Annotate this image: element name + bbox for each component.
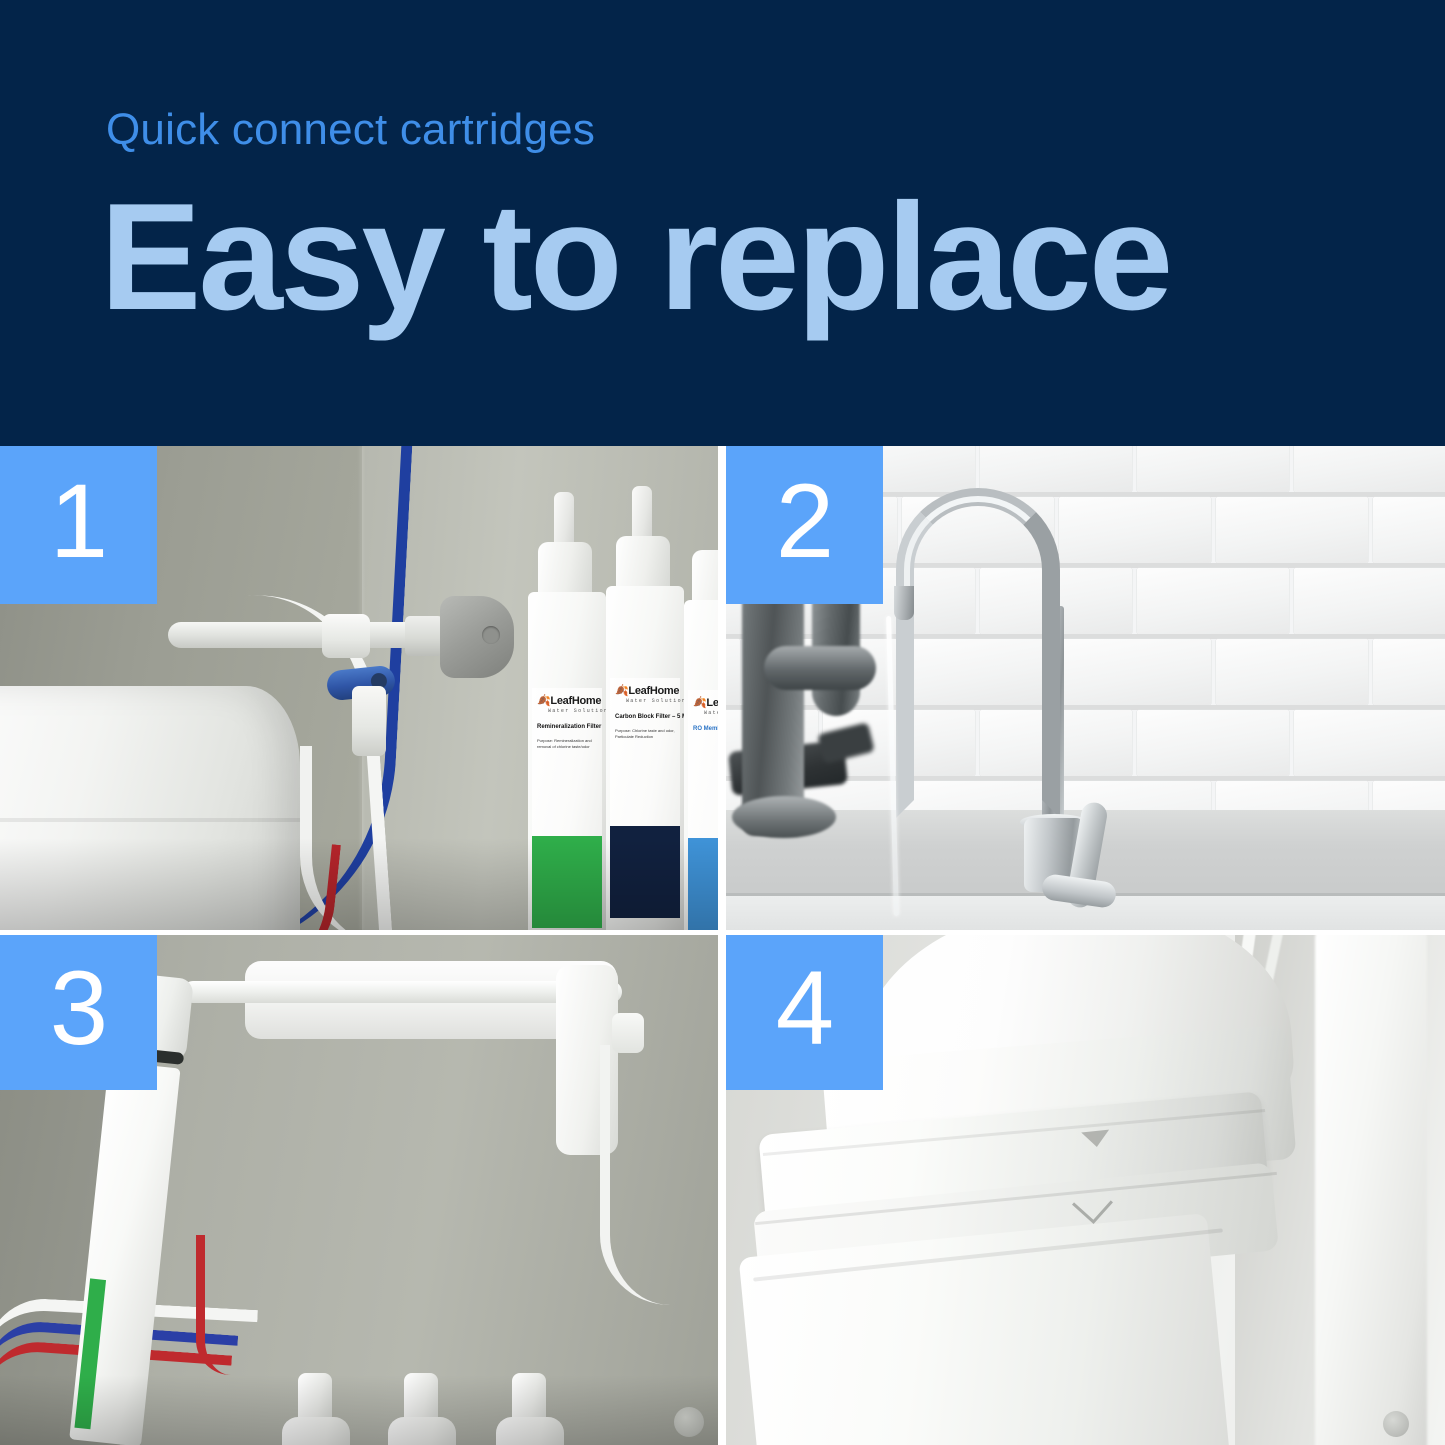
cartridge-title-a: Remineralization Filter <box>537 724 601 730</box>
panel-4-cartridge-head-closeup[interactable]: 4 <box>726 935 1445 1445</box>
main-faucet-base <box>732 796 836 838</box>
cabinet-screw-icon <box>674 1407 704 1437</box>
photo-grid: 🍂LeafHome Water Solutions Remineralizati… <box>0 446 1445 1445</box>
eyebrow-text: Quick connect cartridges <box>106 105 595 155</box>
panel-1-shut-off-valve-and-tank[interactable]: 🍂LeafHome Water Solutions Remineralizati… <box>0 446 718 930</box>
leafhome-logo: 🍂LeafHome <box>693 696 718 709</box>
step-number-2: 2 <box>776 469 833 574</box>
cabinet-screw-icon <box>1383 1411 1409 1437</box>
step-number-4: 4 <box>776 956 833 1061</box>
leafhome-logo: 🍂LeafHome <box>537 694 601 707</box>
step-badge-1: 1 <box>0 446 157 604</box>
panel-3-floor-shadow <box>0 1375 718 1445</box>
promo-card: Quick connect cartridges Easy to replace <box>0 0 1445 1445</box>
header-banner: Quick connect cartridges Easy to replace <box>0 0 1445 446</box>
cartridge-specs-a: Purpose: Remineralization and removal of… <box>537 738 598 750</box>
brand-tagline: Water Solutions <box>626 698 691 704</box>
tee-fitting <box>322 614 370 658</box>
outlet-tube <box>600 1045 680 1305</box>
cartridge-title-b: Carbon Block Filter – 5 Mic <box>615 714 692 720</box>
step-badge-2: 2 <box>726 446 883 604</box>
storage-tank-seam <box>0 818 300 822</box>
step-number-1: 1 <box>50 469 107 574</box>
brand-tagline: Water Solutions <box>704 710 718 716</box>
brand-tagline: Water Solutions <box>548 708 613 714</box>
cartridge-title-c: RO Membrane 50 GPD <box>693 726 718 732</box>
compression-nut <box>405 616 443 656</box>
panel-3-cartridge-bank[interactable]: 🍂LeafHome Water Solutions Carbon Block F… <box>0 935 718 1445</box>
angle-stop-adapter <box>440 596 514 678</box>
alignment-arrow-icon <box>1081 1130 1111 1149</box>
leaf-icon: 🍂 <box>615 685 628 697</box>
leaf-icon: 🍂 <box>537 695 550 707</box>
step-number-3: 3 <box>50 956 107 1061</box>
page-title: Easy to replace <box>100 181 1170 333</box>
step-badge-4: 4 <box>726 935 883 1090</box>
main-faucet-lever-arm[interactable] <box>764 646 876 690</box>
panel-2-ro-faucet-running[interactable]: 2 <box>726 446 1445 930</box>
cartridge-specs-b: Purpose: Chlorine taste and odor, Partic… <box>615 728 676 740</box>
step-badge-3: 3 <box>0 935 157 1090</box>
red-tube-drop <box>196 1235 231 1375</box>
ro-faucet-spout <box>894 586 914 620</box>
leafhome-logo: 🍂LeafHome <box>615 684 679 697</box>
leaf-icon: 🍂 <box>693 697 706 709</box>
adjacent-cartridge <box>1315 935 1427 1445</box>
panel-1-floor-shadow <box>0 838 718 930</box>
